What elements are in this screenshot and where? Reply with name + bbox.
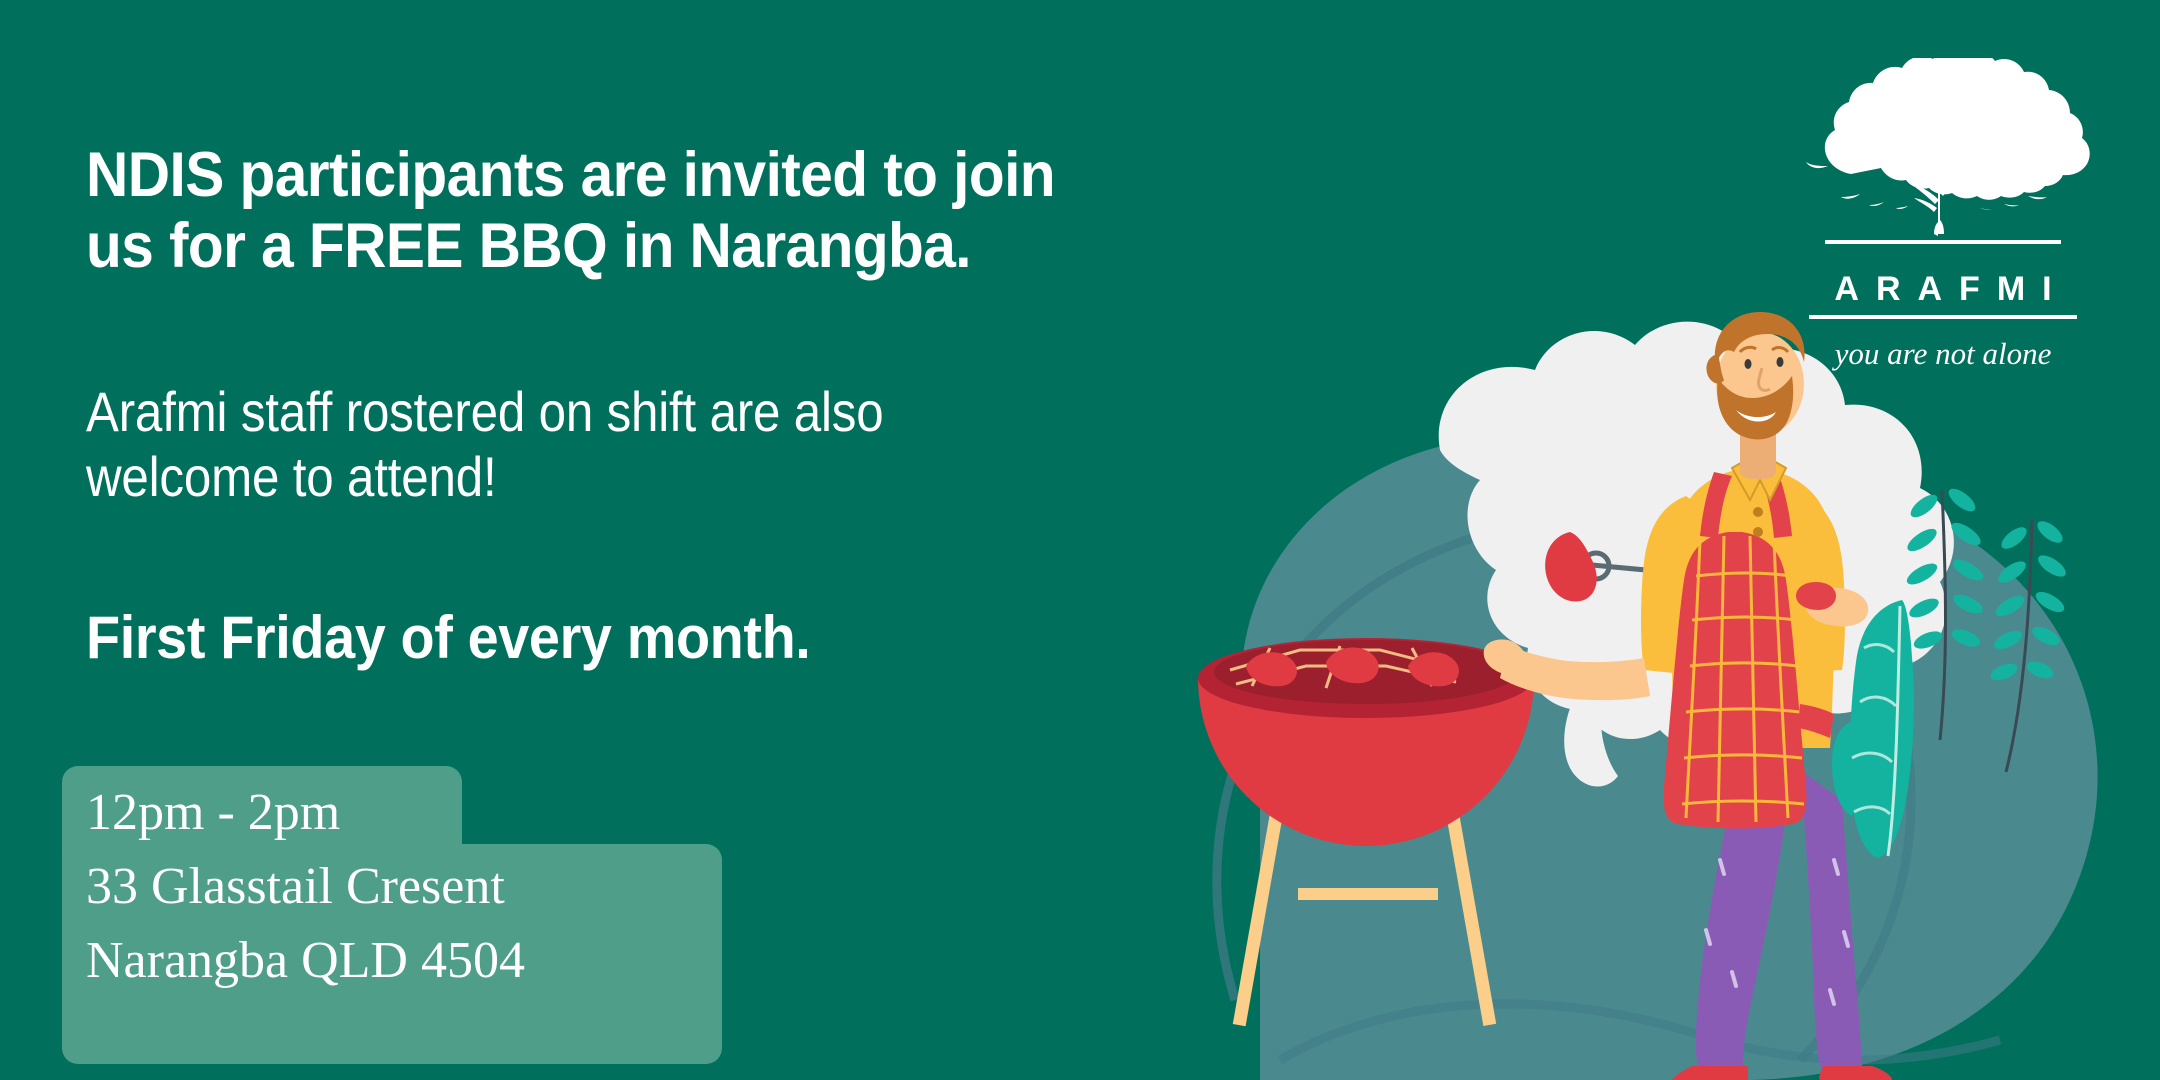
subtext: Arafmi staff rostered on shift are also … xyxy=(86,380,1098,510)
address-suburb: Narangba QLD 4504 xyxy=(86,924,726,998)
shirt-button-2 xyxy=(1753,527,1763,537)
address-lines: 12pm - 2pm 33 Glasstail Cresent Narangba… xyxy=(86,776,726,997)
subtext-line-1: Arafmi staff rostered on shift are also xyxy=(86,380,1098,445)
tree-icon xyxy=(1788,58,2098,263)
shoe-right xyxy=(1819,1066,1892,1080)
bbq-cook-illustration xyxy=(1140,300,2160,1080)
subtext-line-2: welcome to attend! xyxy=(86,445,1098,510)
headline-line-1: NDIS participants are invited to join xyxy=(86,140,1202,211)
headline-line-2: us for a FREE BBQ in Narangba. xyxy=(86,211,1202,282)
shirt-button-1 xyxy=(1753,507,1763,517)
headline: NDIS participants are invited to join us… xyxy=(86,140,1202,281)
address-time: 12pm - 2pm xyxy=(86,776,726,850)
promo-banner: NDIS participants are invited to join us… xyxy=(0,0,2160,1080)
sausages xyxy=(1246,648,1459,687)
address-street: 33 Glasstail Cresent xyxy=(86,850,726,924)
frequency-text: First Friday of every month. xyxy=(86,605,1202,671)
